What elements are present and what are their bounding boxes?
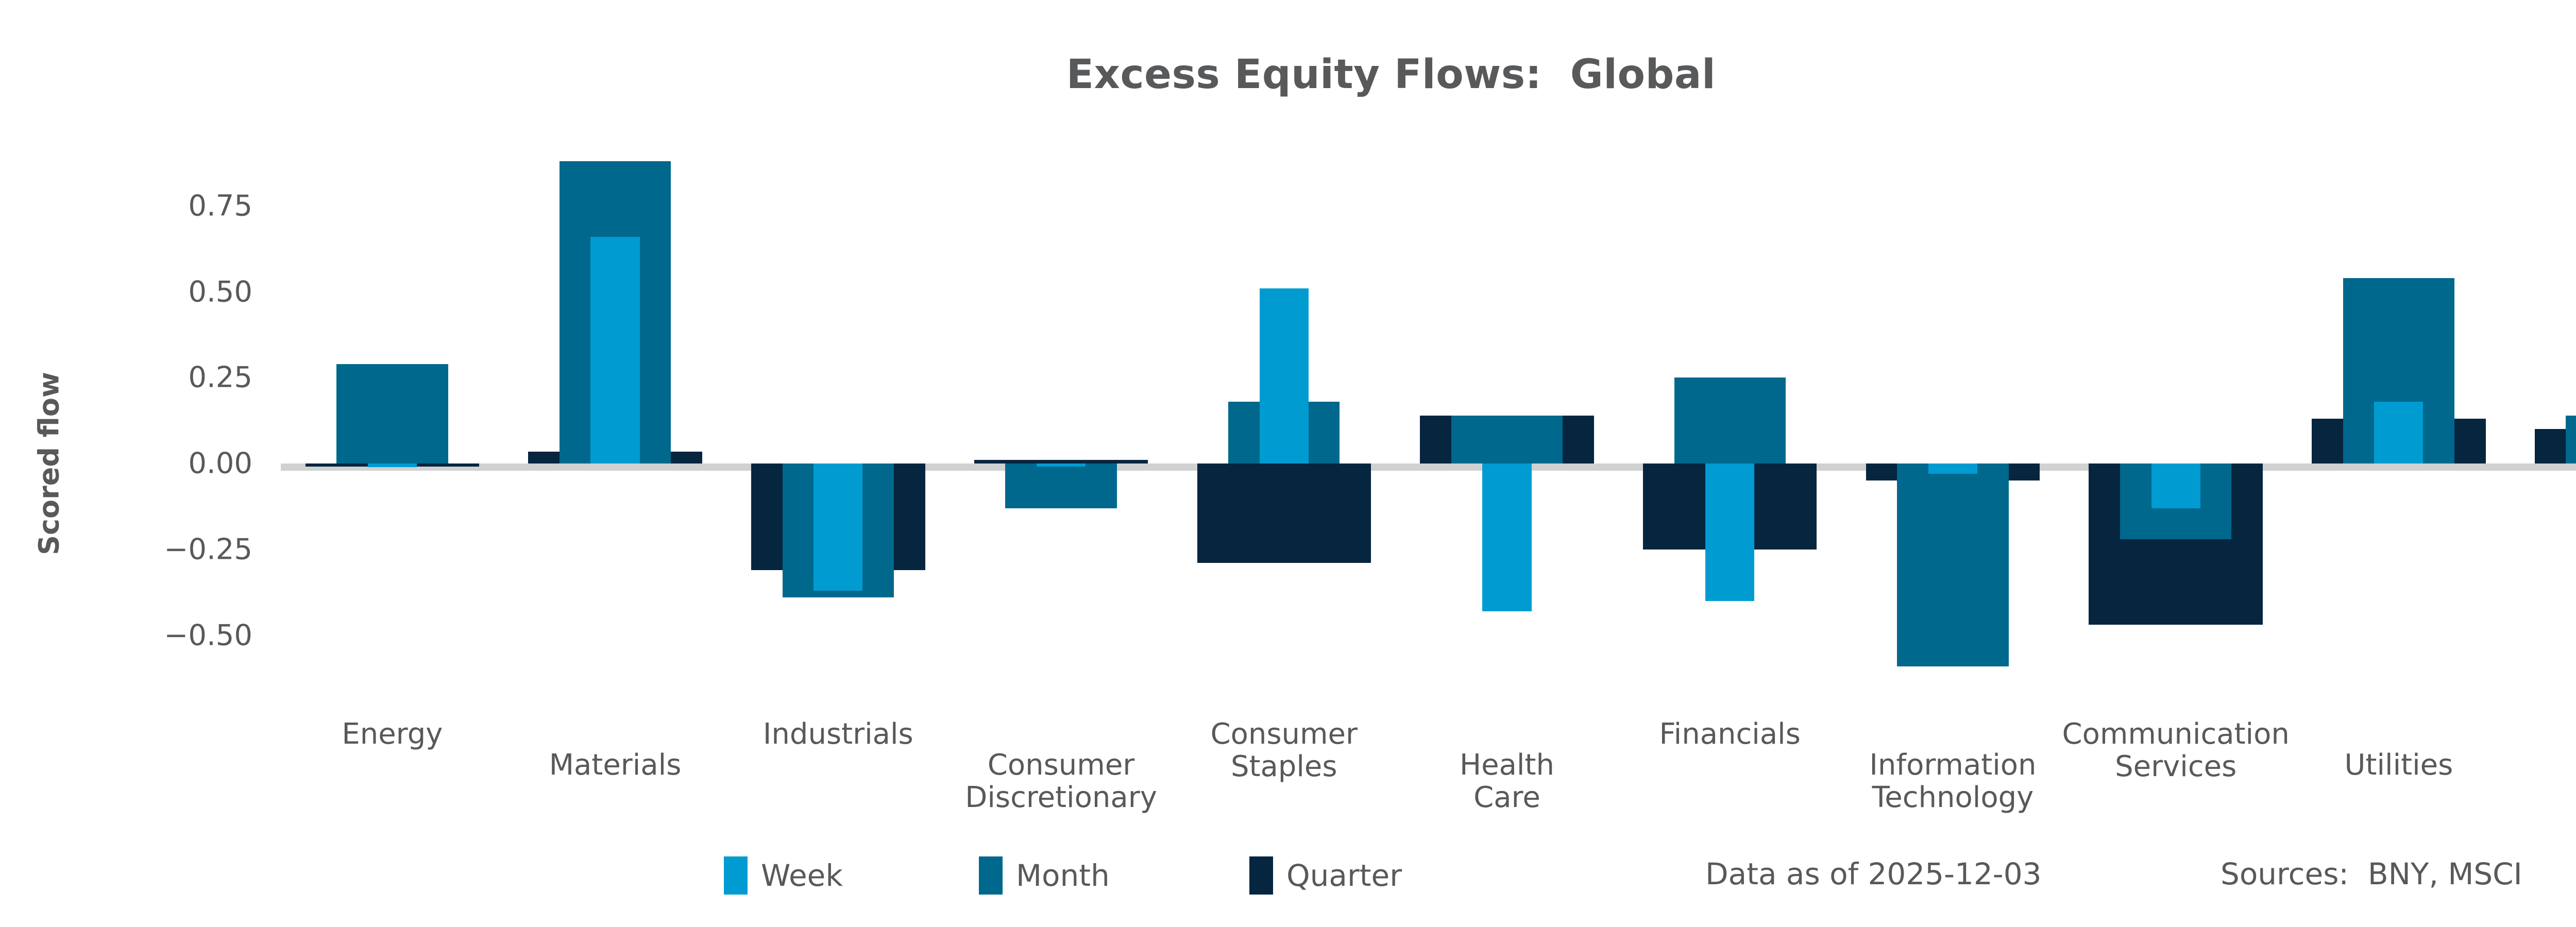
bar-quarter[interactable] <box>1197 463 1371 563</box>
data-as-of-note: Data as of 2025-12-03 <box>1705 856 2042 891</box>
sources-note: Sources: BNY, MSCI <box>2221 856 2522 891</box>
bar-month[interactable] <box>1451 416 1563 463</box>
x-category-label: Energy <box>342 718 443 751</box>
bar-month[interactable] <box>336 364 448 463</box>
bar-week[interactable] <box>1482 463 1531 611</box>
legend-swatch-icon <box>724 856 748 895</box>
bar-week[interactable] <box>2151 463 2200 508</box>
legend-item-quarter[interactable]: Quarter <box>1249 852 1402 899</box>
x-category-label: Consumer Discretionary <box>965 749 1157 814</box>
bar-month[interactable] <box>2566 416 2576 463</box>
bar-week[interactable] <box>1705 463 1754 601</box>
bar-week[interactable] <box>1037 463 1086 467</box>
x-category-label: Financials <box>1659 718 1801 751</box>
bar-week[interactable] <box>2374 402 2423 463</box>
legend-swatch-icon <box>1249 856 1273 895</box>
bar-week[interactable] <box>814 463 862 591</box>
bar-quarter[interactable] <box>974 460 1148 463</box>
legend-label: Week <box>761 858 843 893</box>
bar-week[interactable] <box>368 463 417 467</box>
bar-month[interactable] <box>1005 463 1116 508</box>
bar-week[interactable] <box>590 237 639 463</box>
x-category-label: Materials <box>549 749 682 782</box>
legend-label: Quarter <box>1286 858 1402 893</box>
bar-month[interactable] <box>1674 377 1786 463</box>
x-category-label: Consumer Staples <box>1210 718 1358 783</box>
chart-legend: Data as of 2025-12-03 Sources: BNY, MSCI… <box>0 852 2576 909</box>
x-category-label: Industrials <box>763 718 913 751</box>
legend-item-month[interactable]: Month <box>979 852 1110 899</box>
bar-week[interactable] <box>1260 288 1309 463</box>
x-category-label: Information Technology <box>1869 749 2036 814</box>
legend-label: Month <box>1016 858 1110 893</box>
legend-swatch-icon <box>979 856 1003 895</box>
x-category-label: Utilities <box>2345 749 2453 782</box>
x-category-label: Health Care <box>1460 749 1554 814</box>
bar-week[interactable] <box>1928 463 1977 474</box>
chart-figure: Excess Equity Flows: Global Scored flow … <box>0 0 2576 927</box>
legend-item-week[interactable]: Week <box>724 852 843 899</box>
bar-month[interactable] <box>1897 463 2008 666</box>
x-category-label: Communication Services <box>2062 718 2289 783</box>
